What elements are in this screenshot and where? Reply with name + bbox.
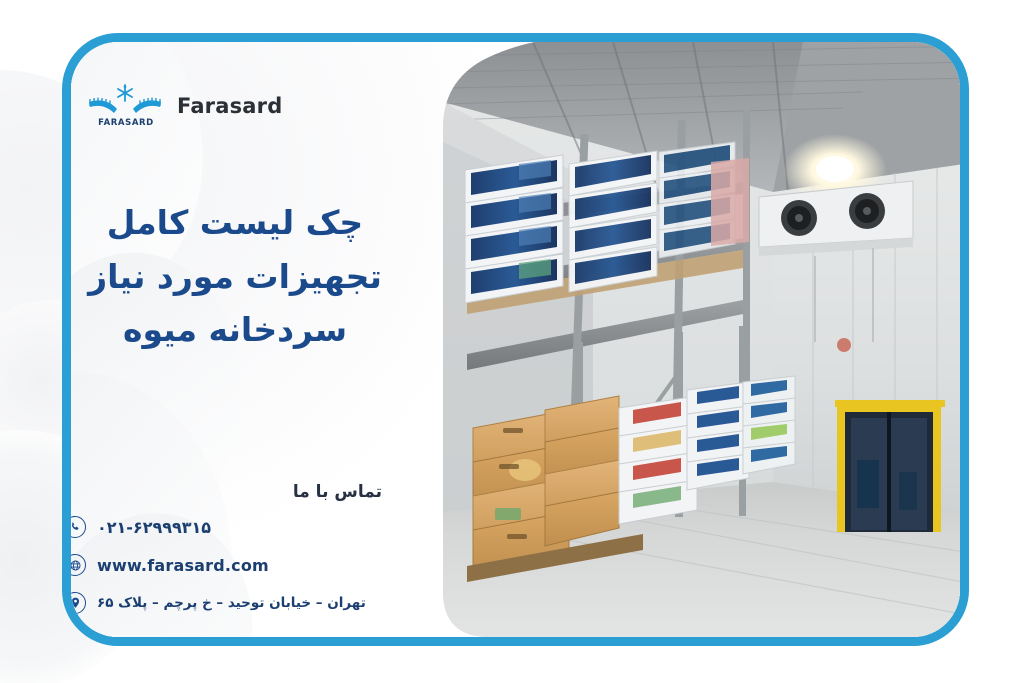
contact-row-phone[interactable]: ۰۲۱-۶۲۹۹۹۳۱۵ [64, 516, 400, 538]
warehouse-photo [443, 42, 969, 637]
contact-website-value: www.farasard.com [97, 556, 269, 575]
brand-logo[interactable]: FARASARD Farasard [87, 82, 282, 130]
location-icon [64, 592, 86, 614]
headline-line-1: چک لیست کامل [70, 196, 400, 249]
contact-address-value: تهران – خیابان توحید – خ پرچم – پلاک ۶۵ [97, 595, 366, 611]
headline-line-3: سردخانه میوه [70, 303, 400, 356]
globe-icon [64, 554, 86, 576]
headline-line-2: تجهیزات مورد نیاز [70, 250, 400, 303]
contact-row-address[interactable]: تهران – خیابان توحید – خ پرچم – پلاک ۶۵ [64, 592, 400, 614]
svg-text:FARASARD: FARASARD [98, 118, 154, 128]
blue-rounded-frame: FARASARD Farasard چک لیست کامل تجهیزات م… [62, 33, 969, 646]
phone-icon [64, 516, 86, 538]
contact-row-website[interactable]: www.farasard.com [64, 554, 400, 576]
snowflake-wings-logo-icon: FARASARD [87, 82, 165, 130]
brand-name: Farasard [177, 94, 282, 118]
contact-phone-value: ۰۲۱-۶۲۹۹۹۳۱۵ [97, 518, 211, 537]
poster-canvas: FARASARD Farasard چک لیست کامل تجهیزات م… [0, 0, 1024, 683]
page-title: چک لیست کامل تجهیزات مورد نیاز سردخانه م… [70, 196, 400, 356]
contact-block: تماس با ما ۰۲۱-۶۲۹۹۹۳۱۵ [64, 482, 400, 630]
contact-heading: تماس با ما [64, 482, 382, 502]
